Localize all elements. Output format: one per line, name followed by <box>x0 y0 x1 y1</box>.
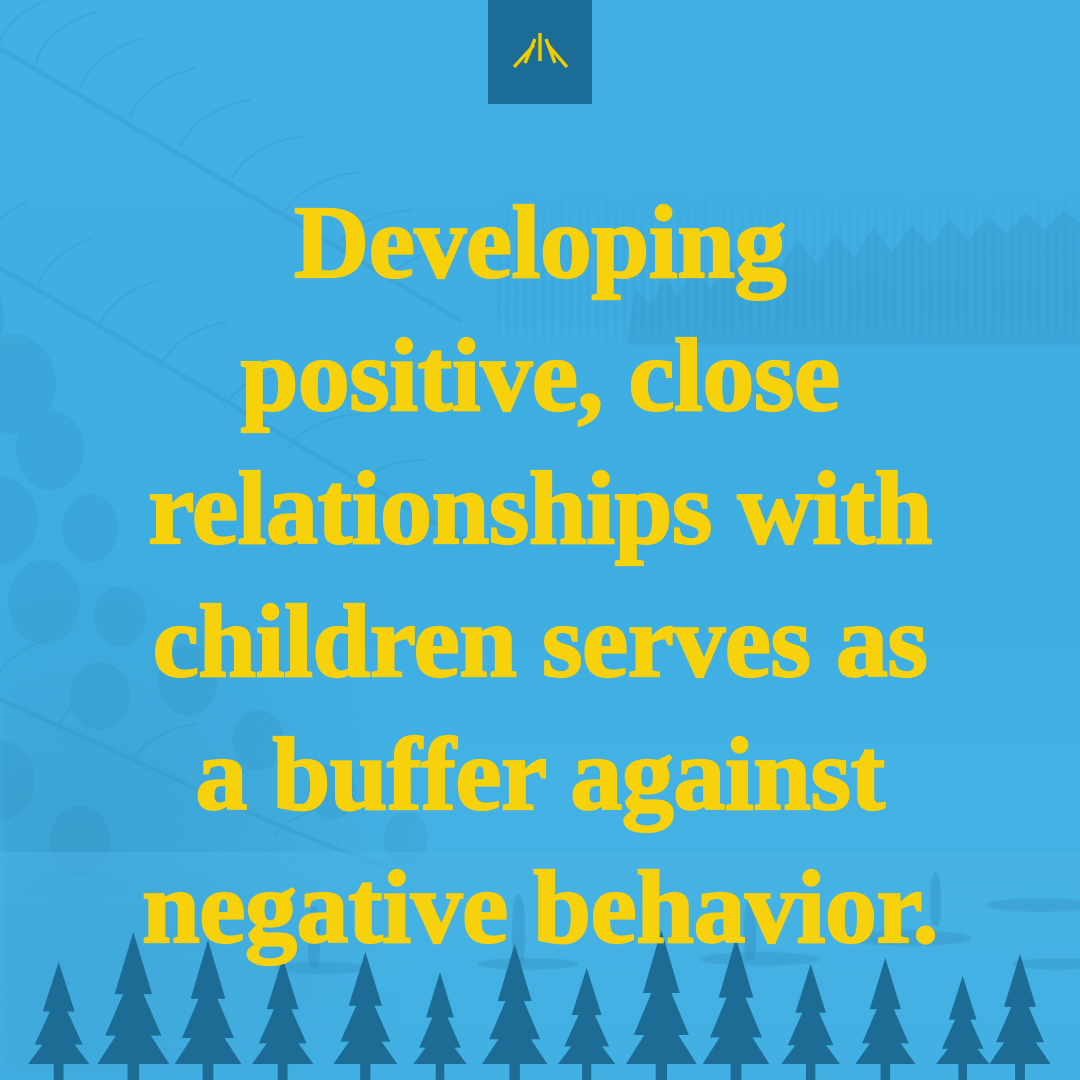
quote-line-3: relationships with <box>58 442 1022 575</box>
pine-tree-trunk <box>360 1062 370 1080</box>
sunburst-rays-icon <box>488 0 592 104</box>
pine-tree-trunk <box>731 1062 742 1080</box>
pine-tree-tier <box>97 1009 169 1064</box>
pine-tree-trunk <box>582 1062 591 1080</box>
pine-tree-trunk <box>128 1062 140 1080</box>
pine-tree-tier <box>175 1013 242 1064</box>
quote-graphic-canvas: Developing positive, close relationships… <box>0 0 1080 1080</box>
pine-tree-trunk <box>436 1062 445 1080</box>
quote-line-2: positive, close <box>58 309 1022 442</box>
pine-tree-trunk <box>656 1062 667 1080</box>
pine-tree-trunk <box>278 1062 288 1080</box>
pine-tree-trunk <box>1015 1062 1025 1080</box>
pine-tree-trunk <box>958 1062 967 1080</box>
pine-tree-trunk <box>806 1062 815 1080</box>
quote-text: Developing positive, close relationships… <box>0 176 1080 974</box>
quote-line-6: negative behavior. <box>58 841 1022 974</box>
quote-line-5: a buffer against <box>58 708 1022 841</box>
pine-tree-trunk <box>54 1062 64 1080</box>
quote-line-1: Developing <box>58 176 1022 309</box>
sunburst-logo <box>488 0 592 104</box>
pine-tree-tier <box>703 1012 770 1064</box>
pine-tree-tier <box>626 1008 697 1064</box>
pine-tree-trunk <box>509 1062 519 1080</box>
quote-line-4: children serves as <box>58 575 1022 708</box>
pine-tree-trunk <box>203 1062 214 1080</box>
pine-tree-trunk <box>881 1062 891 1080</box>
pine-tree-tier <box>482 1015 547 1064</box>
